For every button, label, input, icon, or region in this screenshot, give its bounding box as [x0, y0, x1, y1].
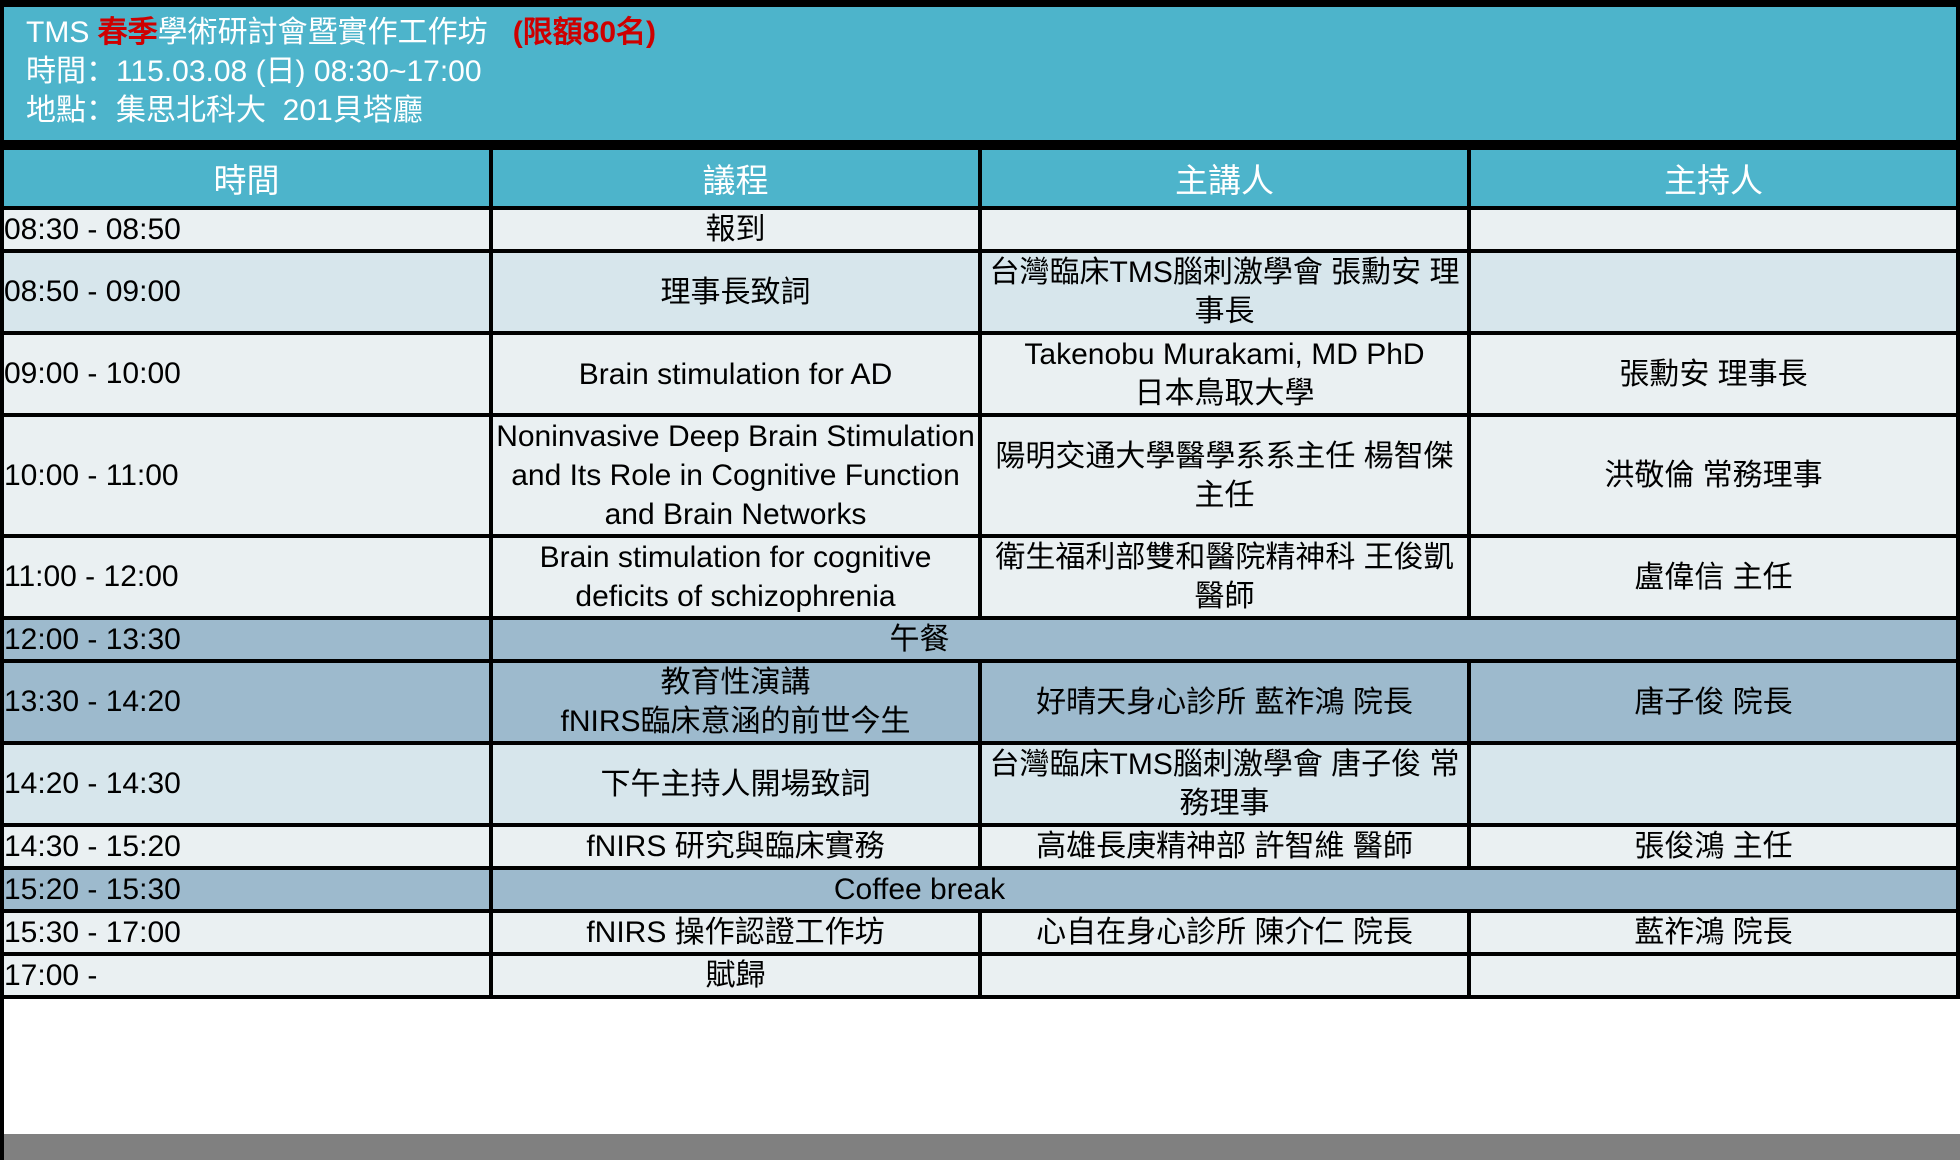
cell-time: 17:00 -	[2, 954, 491, 997]
bottom-gray-bar	[0, 1134, 1960, 1160]
table-row: 15:30 - 17:00fNIRS 操作認證工作坊心自在身心診所 陳介仁 院長…	[2, 911, 1958, 954]
cell-host: 藍祚鴻 院長	[1469, 911, 1958, 954]
table-row: 14:30 - 15:20fNIRS 研究與臨床實務高雄長庚精神部 許智維 醫師…	[2, 825, 1958, 868]
column-header-host: 主持人	[1469, 148, 1958, 208]
banner-title-line: TMS 春季學術研討會暨實作工作坊 (限額80名)	[26, 13, 1956, 52]
banner-time-line: 時間：115.03.08 (日) 08:30~17:00	[26, 52, 1956, 91]
cell-topic: Noninvasive Deep Brain Stimulation and I…	[491, 415, 980, 536]
table-row: 08:30 - 08:50報到	[2, 208, 1958, 251]
cell-topic: Brain stimulation for cognitive deficits…	[491, 536, 980, 618]
cell-time: 08:30 - 08:50	[2, 208, 491, 251]
cell-speaker: 好晴天身心診所 藍祚鴻 院長	[980, 661, 1469, 743]
table-row: 14:20 - 14:30下午主持人開場致詞台灣臨床TMS腦刺激學會 唐子俊 常…	[2, 743, 1958, 825]
left-edge-border	[0, 0, 4, 1160]
cell-time: 13:30 - 14:20	[2, 661, 491, 743]
table-row: 12:00 - 13:30午餐	[2, 618, 1958, 661]
agenda-table: 時間 議程 主講人 主持人 08:30 - 08:50報到08:50 - 09:…	[0, 146, 1960, 999]
table-row: 13:30 - 14:20教育性演講fNIRS臨床意涵的前世今生好晴天身心診所 …	[2, 661, 1958, 743]
cell-host	[1469, 251, 1958, 333]
cell-speaker	[980, 208, 1469, 251]
cell-host: 洪敬倫 常務理事	[1469, 415, 1958, 536]
table-row: 10:00 - 11:00Noninvasive Deep Brain Stim…	[2, 415, 1958, 536]
banner-place-line: 地點：集思北科大 201貝塔廳	[26, 91, 1956, 130]
cell-host: 張俊鴻 主任	[1469, 825, 1958, 868]
cell-topic: Coffee break	[491, 868, 1958, 911]
cell-topic: fNIRS 操作認證工作坊	[491, 911, 980, 954]
cell-time: 14:30 - 15:20	[2, 825, 491, 868]
cell-host: 唐子俊 院長	[1469, 661, 1958, 743]
cell-time: 11:00 - 12:00	[2, 536, 491, 618]
cell-topic: 理事長致詞	[491, 251, 980, 333]
cell-host	[1469, 208, 1958, 251]
cell-topic: 報到	[491, 208, 980, 251]
banner-quota: (限額80名)	[513, 16, 656, 49]
column-header-topic: 議程	[491, 148, 980, 208]
top-border-rule	[0, 0, 1960, 7]
cell-time: 15:30 - 17:00	[2, 911, 491, 954]
cell-speaker: 陽明交通大學醫學系系主任 楊智傑 主任	[980, 415, 1469, 536]
cell-host: 盧偉信 主任	[1469, 536, 1958, 618]
cell-speaker: 高雄長庚精神部 許智維 醫師	[980, 825, 1469, 868]
cell-time: 09:00 - 10:00	[2, 333, 491, 415]
cell-host: 張勳安 理事長	[1469, 333, 1958, 415]
cell-speaker: 衛生福利部雙和醫院精神科 王俊凱 醫師	[980, 536, 1469, 618]
cell-time: 10:00 - 11:00	[2, 415, 491, 536]
cell-speaker	[980, 954, 1469, 997]
event-banner: TMS 春季學術研討會暨實作工作坊 (限額80名) 時間：115.03.08 (…	[0, 7, 1960, 140]
column-header-time: 時間	[2, 148, 491, 208]
table-row: 17:00 -賦歸	[2, 954, 1958, 997]
cell-speaker: 心自在身心診所 陳介仁 院長	[980, 911, 1469, 954]
agenda-table-body: 08:30 - 08:50報到08:50 - 09:00理事長致詞台灣臨床TMS…	[2, 208, 1958, 997]
banner-title-prefix: TMS	[26, 16, 98, 49]
cell-time: 12:00 - 13:30	[2, 618, 491, 661]
banner-title-rest: 學術研討會暨實作工作坊	[158, 16, 488, 49]
cell-topic: fNIRS 研究與臨床實務	[491, 825, 980, 868]
cell-time: 15:20 - 15:30	[2, 868, 491, 911]
cell-speaker: 台灣臨床TMS腦刺激學會 張勳安 理事長	[980, 251, 1469, 333]
table-row: 08:50 - 09:00理事長致詞台灣臨床TMS腦刺激學會 張勳安 理事長	[2, 251, 1958, 333]
cell-topic: Brain stimulation for AD	[491, 333, 980, 415]
cell-speaker: Takenobu Murakami, MD PhD日本鳥取大學	[980, 333, 1469, 415]
cell-time: 14:20 - 14:30	[2, 743, 491, 825]
table-row: 09:00 - 10:00Brain stimulation for ADTak…	[2, 333, 1958, 415]
cell-host	[1469, 954, 1958, 997]
agenda-table-head: 時間 議程 主講人 主持人	[2, 148, 1958, 208]
cell-topic: 賦歸	[491, 954, 980, 997]
cell-host	[1469, 743, 1958, 825]
table-header-row: 時間 議程 主講人 主持人	[2, 148, 1958, 208]
cell-topic: 教育性演講fNIRS臨床意涵的前世今生	[491, 661, 980, 743]
schedule-poster: TMS 春季學術研討會暨實作工作坊 (限額80名) 時間：115.03.08 (…	[0, 0, 1960, 1160]
table-row: 15:20 - 15:30Coffee break	[2, 868, 1958, 911]
cell-topic: 下午主持人開場致詞	[491, 743, 980, 825]
column-header-speaker: 主講人	[980, 148, 1469, 208]
cell-topic: 午餐	[491, 618, 1958, 661]
cell-speaker: 台灣臨床TMS腦刺激學會 唐子俊 常務理事	[980, 743, 1469, 825]
cell-time: 08:50 - 09:00	[2, 251, 491, 333]
table-row: 11:00 - 12:00Brain stimulation for cogni…	[2, 536, 1958, 618]
banner-title-accent: 春季	[98, 16, 158, 49]
